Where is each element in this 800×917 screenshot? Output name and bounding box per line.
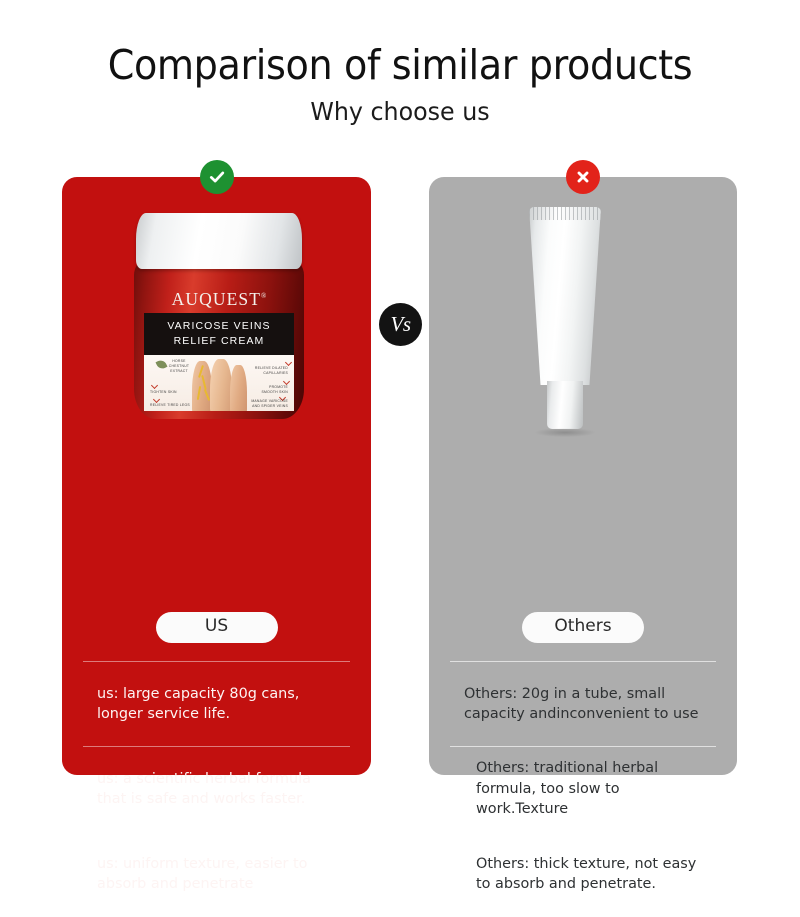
registered-mark: ®	[261, 292, 266, 300]
panel-name-pill-others: Others	[522, 612, 644, 643]
vs-badge: Vs	[379, 303, 422, 346]
jar-body: AUQUEST® VARICOSE VEINS RELIEF CREAM HOR…	[134, 259, 304, 419]
panel-name-pill-us: US	[156, 612, 278, 643]
cream-jar: AUQUEST® VARICOSE VEINS RELIEF CREAM HOR…	[134, 213, 304, 421]
claim-text: MANAGE VARICOSEAND SPIDER VEINS	[228, 399, 288, 409]
product-image-others	[429, 177, 737, 432]
cross-circle-icon	[566, 160, 600, 194]
product-name-line-2: RELIEF CREAM	[174, 334, 265, 349]
check-tick-icon	[153, 396, 160, 403]
brand-text: AUQUEST	[172, 289, 261, 309]
tube-body	[529, 207, 601, 385]
check-tick-icon	[283, 378, 290, 385]
feature-item: Others: traditional herbal formula, too …	[450, 747, 716, 831]
vs-label: Vs	[391, 314, 411, 335]
jar-product-name: VARICOSE VEINS RELIEF CREAM	[144, 313, 294, 355]
tube-shadow	[535, 428, 595, 437]
claim-text: RELIEVE TIRED LEGS	[150, 403, 190, 408]
claim-text: TIGHTEN SKIN	[150, 390, 177, 395]
claim-text: HORSECHESTNUTEXTRACT	[162, 359, 196, 374]
feature-list-others: Others: 20g in a tube, small capacity an…	[429, 661, 737, 917]
product-name-line-1: VARICOSE VEINS	[167, 319, 270, 334]
feature-list-us: us: large capacity 80g cans, longer serv…	[62, 661, 371, 917]
cream-tube	[529, 207, 601, 429]
feature-item: us: a scientific herbal formula that is …	[83, 747, 350, 831]
tube-cap	[547, 381, 583, 429]
page-header: Comparison of similar products Why choos…	[0, 0, 800, 126]
jar-lid	[136, 213, 302, 269]
check-tick-icon	[285, 359, 292, 366]
jar-label-photo: HORSECHESTNUTEXTRACT TIGHTEN SKIN RELIEV…	[144, 355, 294, 411]
page-subtitle: Why choose us	[20, 87, 780, 126]
comparison-panel-us: AUQUEST® VARICOSE VEINS RELIEF CREAM HOR…	[62, 177, 371, 775]
check-tick-icon	[151, 382, 158, 389]
page-title: Comparison of similar products	[28, 0, 772, 87]
feature-item: Others: thick texture, not easy to absor…	[450, 832, 716, 916]
check-circle-icon	[200, 160, 234, 194]
jar-brand-name: AUQUEST®	[134, 289, 304, 310]
feature-item: us: uniform texture, easier to absorb an…	[83, 832, 350, 916]
comparison-panel-others: Others Others: 20g in a tube, small capa…	[429, 177, 737, 775]
feature-item: Others: 20g in a tube, small capacity an…	[450, 662, 716, 746]
feature-item: us: large capacity 80g cans, longer serv…	[83, 662, 350, 746]
tube-crimp	[529, 207, 601, 220]
claim-text: RELIEVE DILATEDCAPILLARIES	[232, 366, 288, 376]
product-image-us: AUQUEST® VARICOSE VEINS RELIEF CREAM HOR…	[62, 177, 371, 432]
